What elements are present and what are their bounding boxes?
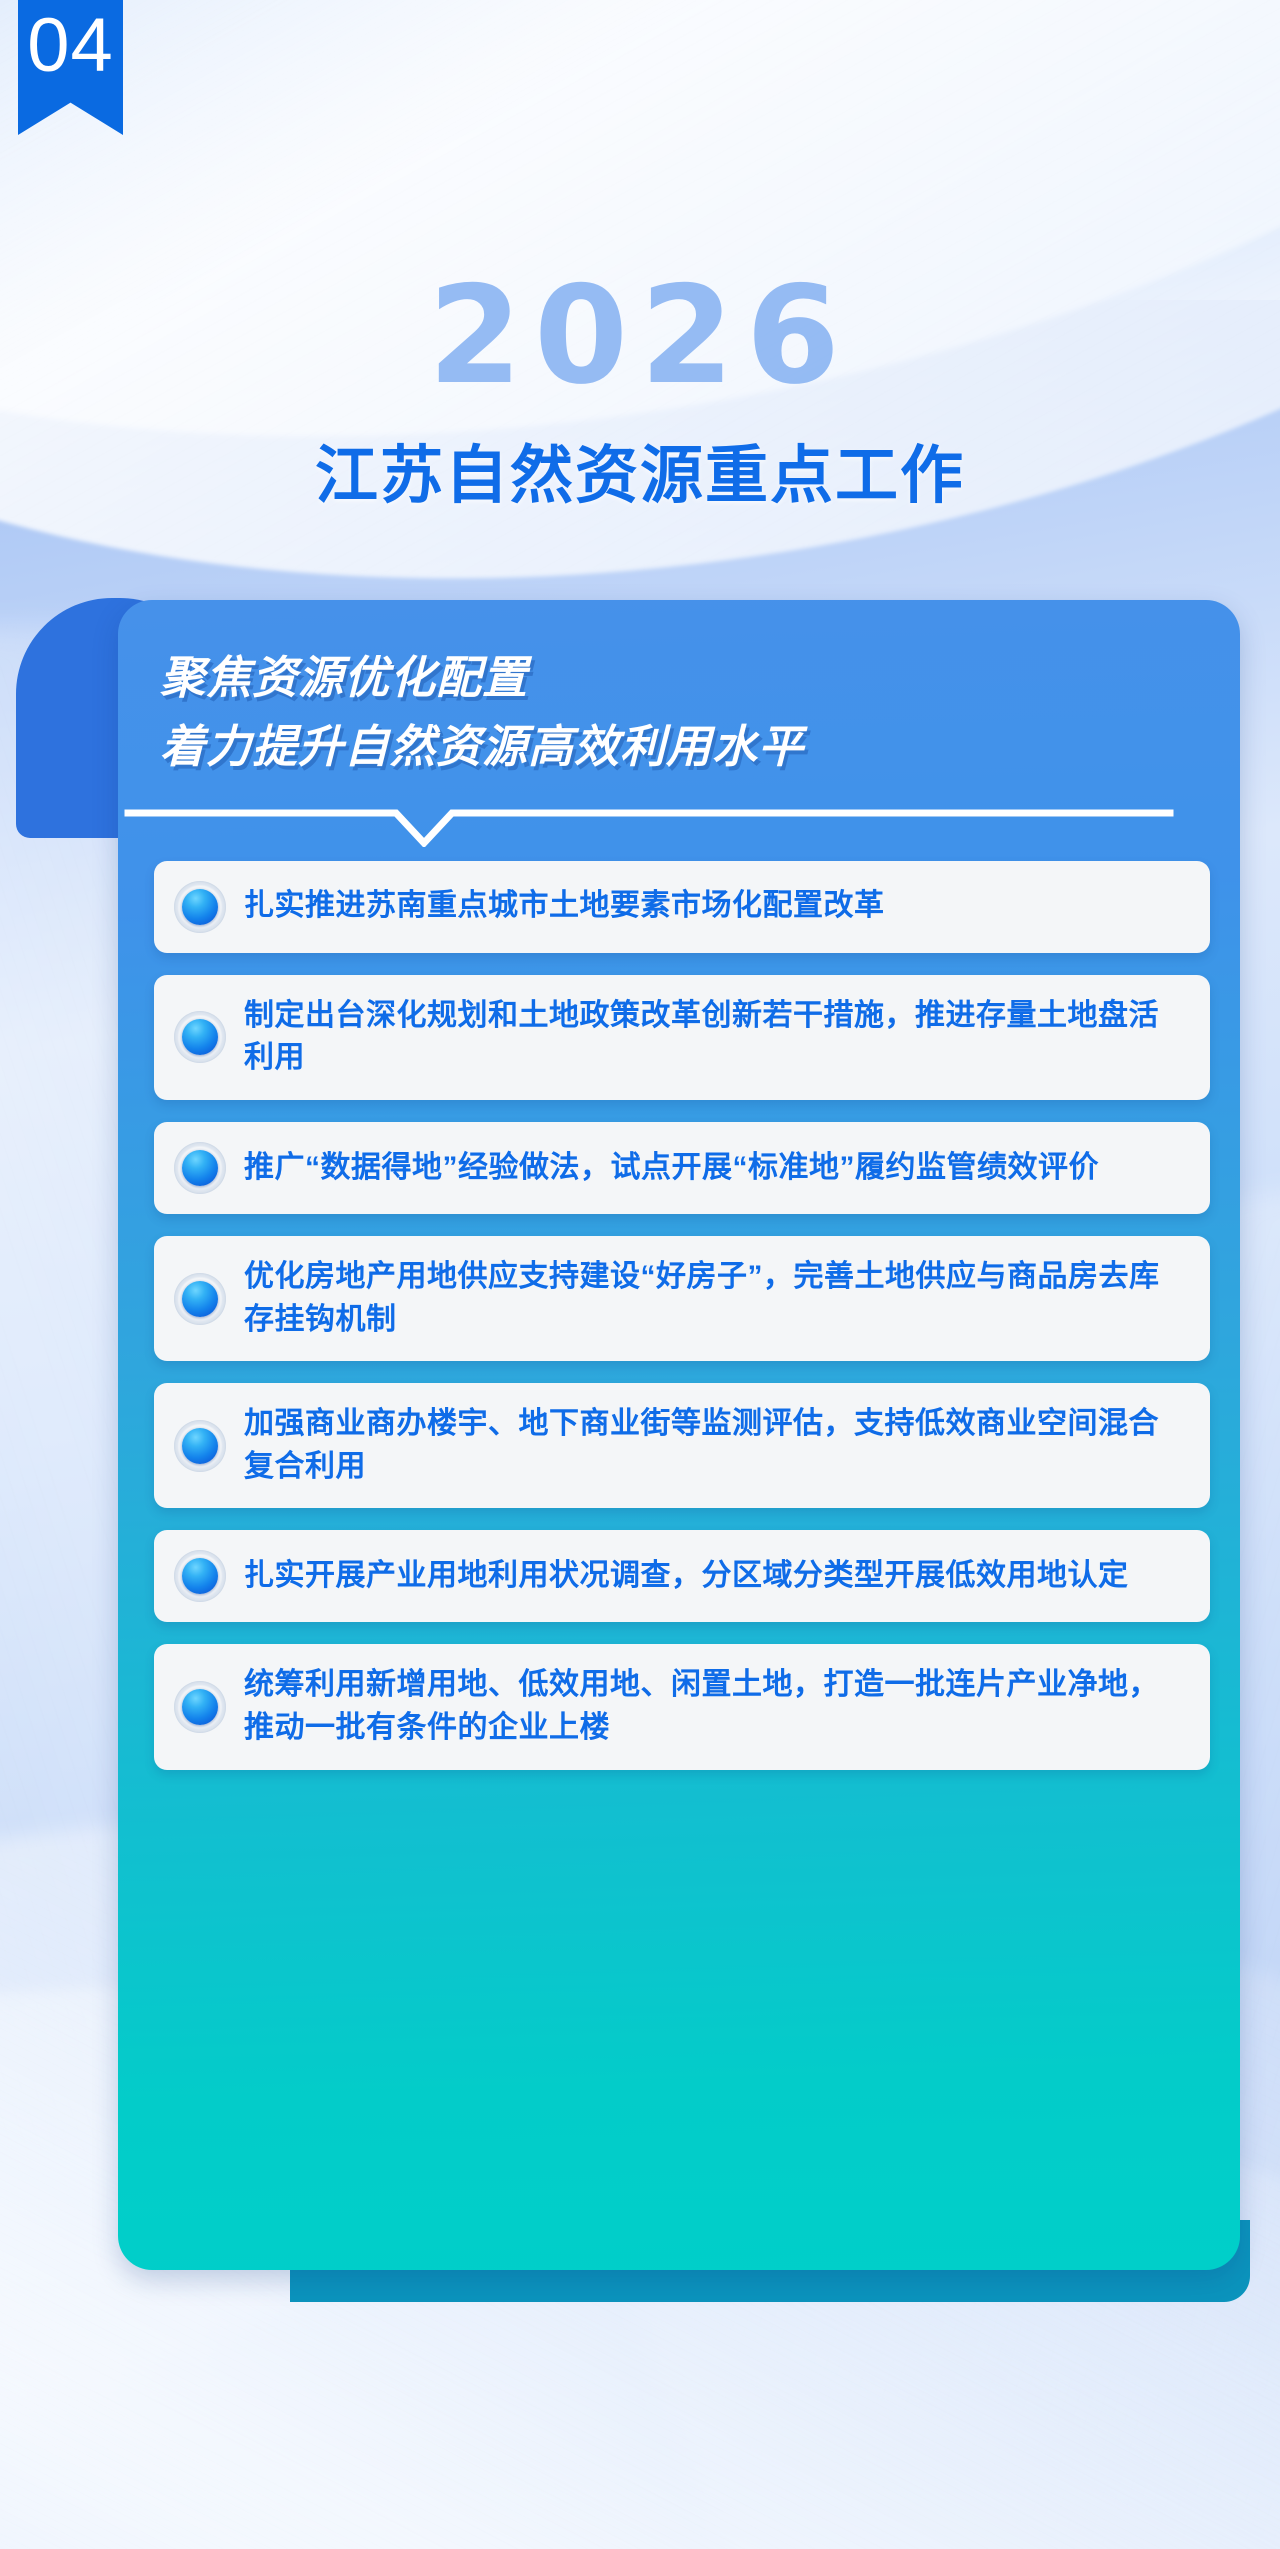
bullet-sphere-icon xyxy=(174,1550,226,1602)
list-item-text: 制定出台深化规划和土地政策改革创新若干措施，推进存量土地盘活利用 xyxy=(244,995,1188,1080)
list-item[interactable]: 扎实推进苏南重点城市土地要素市场化配置改革 xyxy=(154,861,1210,953)
bullet-sphere-icon xyxy=(174,1011,226,1063)
list-item[interactable]: 扎实开展产业用地利用状况调查，分区域分类型开展低效用地认定 xyxy=(154,1530,1210,1622)
list-item-text: 统筹利用新增用地、低效用地、闲置土地，打造一批连片产业净地，推动一批有条件的企业… xyxy=(244,1664,1188,1749)
bullet-sphere-icon xyxy=(174,1420,226,1472)
heading-divider xyxy=(124,803,1174,847)
list-item[interactable]: 加强商业商办楼宇、地下商业街等监测评估，支持低效商业空间混合复合利用 xyxy=(154,1383,1210,1508)
bullet-sphere-icon xyxy=(174,881,226,933)
main-card: 聚焦资源优化配置 着力提升自然资源高效利用水平 扎实推进苏南重点城市土地要素市场… xyxy=(118,600,1240,2270)
list-item-text: 推广“数据得地”经验做法，试点开展“标准地”履约监管绩效评价 xyxy=(244,1147,1188,1190)
card-heading-line-2: 着力提升自然资源高效利用水平 xyxy=(160,717,1210,776)
card-heading: 聚焦资源优化配置 着力提升自然资源高效利用水平 xyxy=(118,600,1240,777)
bullet-sphere-icon xyxy=(174,1142,226,1194)
list-item[interactable]: 制定出台深化规划和土地政策改革创新若干措施，推进存量土地盘活利用 xyxy=(154,975,1210,1100)
bullet-sphere-icon xyxy=(174,1681,226,1733)
card-heading-line-1: 聚焦资源优化配置 xyxy=(160,648,1210,707)
list-item-text: 扎实推进苏南重点城市土地要素市场化配置改革 xyxy=(244,885,1188,928)
list-item[interactable]: 推广“数据得地”经验做法，试点开展“标准地”履约监管绩效评价 xyxy=(154,1122,1210,1214)
list-item-text: 优化房地产用地供应支持建设“好房子”，完善土地供应与商品房去库存挂钩机制 xyxy=(244,1256,1188,1341)
list-item-text: 加强商业商办楼宇、地下商业街等监测评估，支持低效商业空间混合复合利用 xyxy=(244,1403,1188,1488)
bullet-sphere-icon xyxy=(174,1273,226,1325)
list-item-text: 扎实开展产业用地利用状况调查，分区域分类型开展低效用地认定 xyxy=(244,1555,1188,1598)
page-title: 江苏自然资源重点工作 xyxy=(0,440,1280,512)
task-list: 扎实推进苏南重点城市土地要素市场化配置改革 制定出台深化规划和土地政策改革创新若… xyxy=(118,853,1240,1770)
list-item[interactable]: 统筹利用新增用地、低效用地、闲置土地，打造一批连片产业净地，推动一批有条件的企业… xyxy=(154,1644,1210,1769)
divider-chevron-icon xyxy=(124,803,1174,847)
list-item[interactable]: 优化房地产用地供应支持建设“好房子”，完善土地供应与商品房去库存挂钩机制 xyxy=(154,1236,1210,1361)
year-watermark: 2026 xyxy=(0,268,1280,403)
section-number: 04 xyxy=(27,8,114,84)
